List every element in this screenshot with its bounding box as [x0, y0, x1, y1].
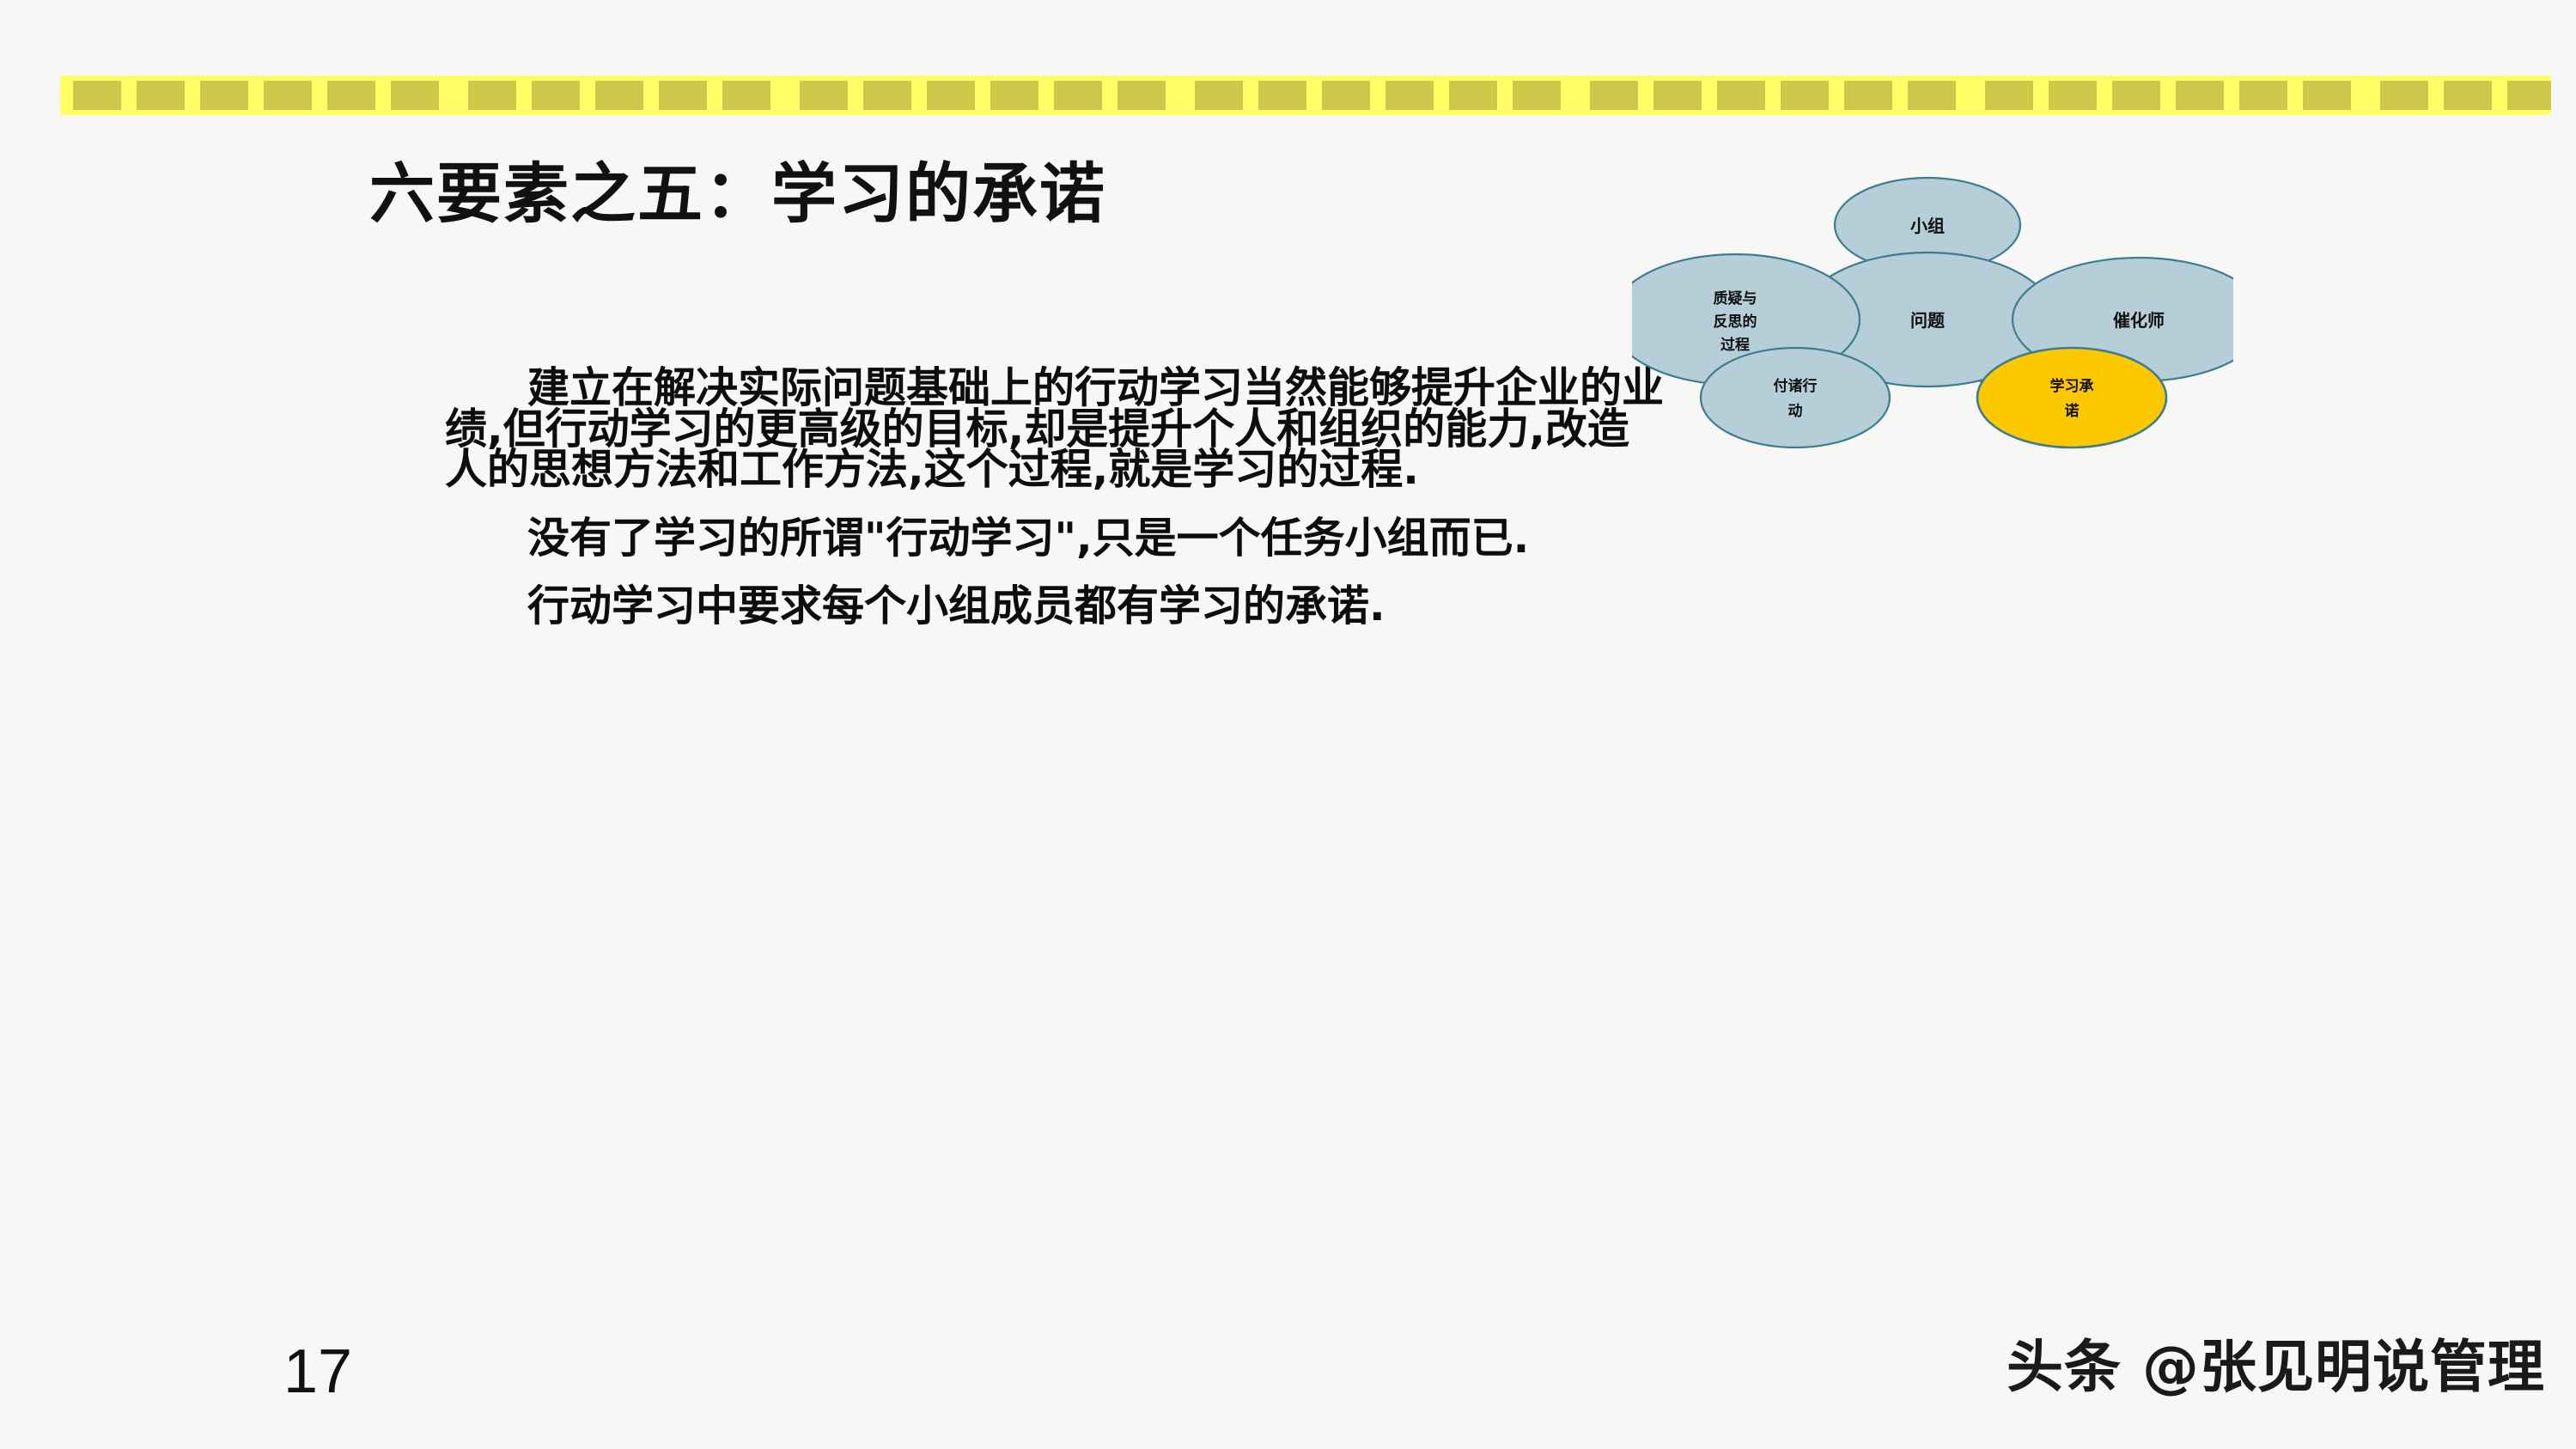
node-label-questioning-reflection-line3: 过程 [1720, 337, 1750, 354]
deco-bar-segment [391, 81, 439, 110]
deco-bar-segment [2444, 81, 2492, 110]
deco-bar-segment [1985, 81, 2033, 110]
paragraph: 建立在解决实际问题基础上的行动学习当然能够提升企业的业绩,但行动学习的更高级的目… [445, 368, 1665, 490]
deco-bar-segment [200, 81, 248, 110]
node-ellipse-take-action[interactable] [1701, 348, 1890, 447]
node-label-learning-commitment-line1: 学习承 [2050, 377, 2094, 395]
page-title: 六要素之五：学习的承诺 [369, 160, 1106, 228]
deco-bar-segment [722, 81, 770, 110]
diagram-node-take-action[interactable]: 付诸行 动 [1701, 348, 1890, 447]
deco-bar-segment [1195, 81, 1243, 110]
deco-bar-segment [1590, 81, 1638, 110]
deco-bar-segment [1513, 81, 1561, 110]
node-ellipse-learning-commitment[interactable] [1977, 348, 2166, 447]
deco-bar-segment [2303, 81, 2351, 110]
deco-bar-segment [2049, 81, 2097, 110]
deco-bar-segment [863, 81, 911, 110]
deco-bar-segment [1908, 81, 1956, 110]
slide-canvas: 六要素之五：学习的承诺 建立在解决实际问题基础上的行动学习当然能够提升企业的业绩… [0, 0, 2576, 1449]
deco-bar-segment [532, 81, 580, 110]
node-label-learning-commitment-line2: 诺 [2065, 402, 2080, 420]
diagram-node-learning-commitment[interactable]: 学习承 诺 [1977, 348, 2166, 447]
node-label-questioning-reflection-line1: 质疑与 [1714, 290, 1757, 307]
deco-bar-segment [327, 81, 375, 110]
deco-bar-segment [2112, 81, 2160, 110]
watermark-text: 头条 @张见明说管理 [2007, 1321, 2545, 1403]
deco-bar-segment [2507, 81, 2551, 110]
node-label-take-action-line2: 动 [1788, 403, 1803, 420]
deco-bar-segment [264, 81, 312, 110]
deco-bar-segment [1054, 81, 1102, 110]
deco-bar-segment [1717, 81, 1765, 110]
deco-bar-segment [1449, 81, 1497, 110]
decorative-yellow-bar [60, 76, 2551, 115]
deco-bar-segment [1844, 81, 1892, 110]
deco-bar-segment [1258, 81, 1306, 110]
deco-bar-segment [1322, 81, 1370, 110]
node-label-group: 小组 [1910, 216, 1945, 236]
deco-bar-segment [1781, 81, 1829, 110]
deco-bar-segment [595, 81, 643, 110]
node-label-problem: 问题 [1910, 310, 1946, 331]
node-label-take-action-line1: 付诸行 [1774, 377, 1818, 395]
body-text-block: 建立在解决实际问题基础上的行动学习当然能够提升企业的业绩,但行动学习的更高级的目… [445, 368, 1665, 627]
deco-bar-segment [2380, 81, 2428, 110]
deco-bar-segment [2176, 81, 2224, 110]
deco-bar-segment [800, 81, 848, 110]
deco-bar-segment [1117, 81, 1166, 110]
deco-bar-segment [990, 81, 1038, 110]
paragraph: 没有了学习的所谓"行动学习",只是一个任务小组而已. [445, 518, 1665, 559]
node-label-facilitator: 催化师 [2113, 310, 2165, 331]
page-number: 17 [283, 1336, 352, 1407]
deco-bar-segment [137, 81, 185, 110]
deco-bar-segment [1653, 81, 1702, 110]
node-label-questioning-reflection-line2: 反思的 [1714, 313, 1757, 331]
deco-bar-segment [1385, 81, 1434, 110]
deco-bar-segment [2239, 81, 2287, 110]
deco-bar-segment [73, 81, 121, 110]
deco-bar-segment [927, 81, 975, 110]
action-learning-elements-diagram: 小组 问题 质疑与 反思的 过程 催化师 付诸行 [1632, 172, 2233, 455]
deco-bar-segment [468, 81, 516, 110]
paragraph: 行动学习中要求每个小组成员都有学习的承诺. [445, 586, 1665, 627]
deco-bar-segment [659, 81, 707, 110]
